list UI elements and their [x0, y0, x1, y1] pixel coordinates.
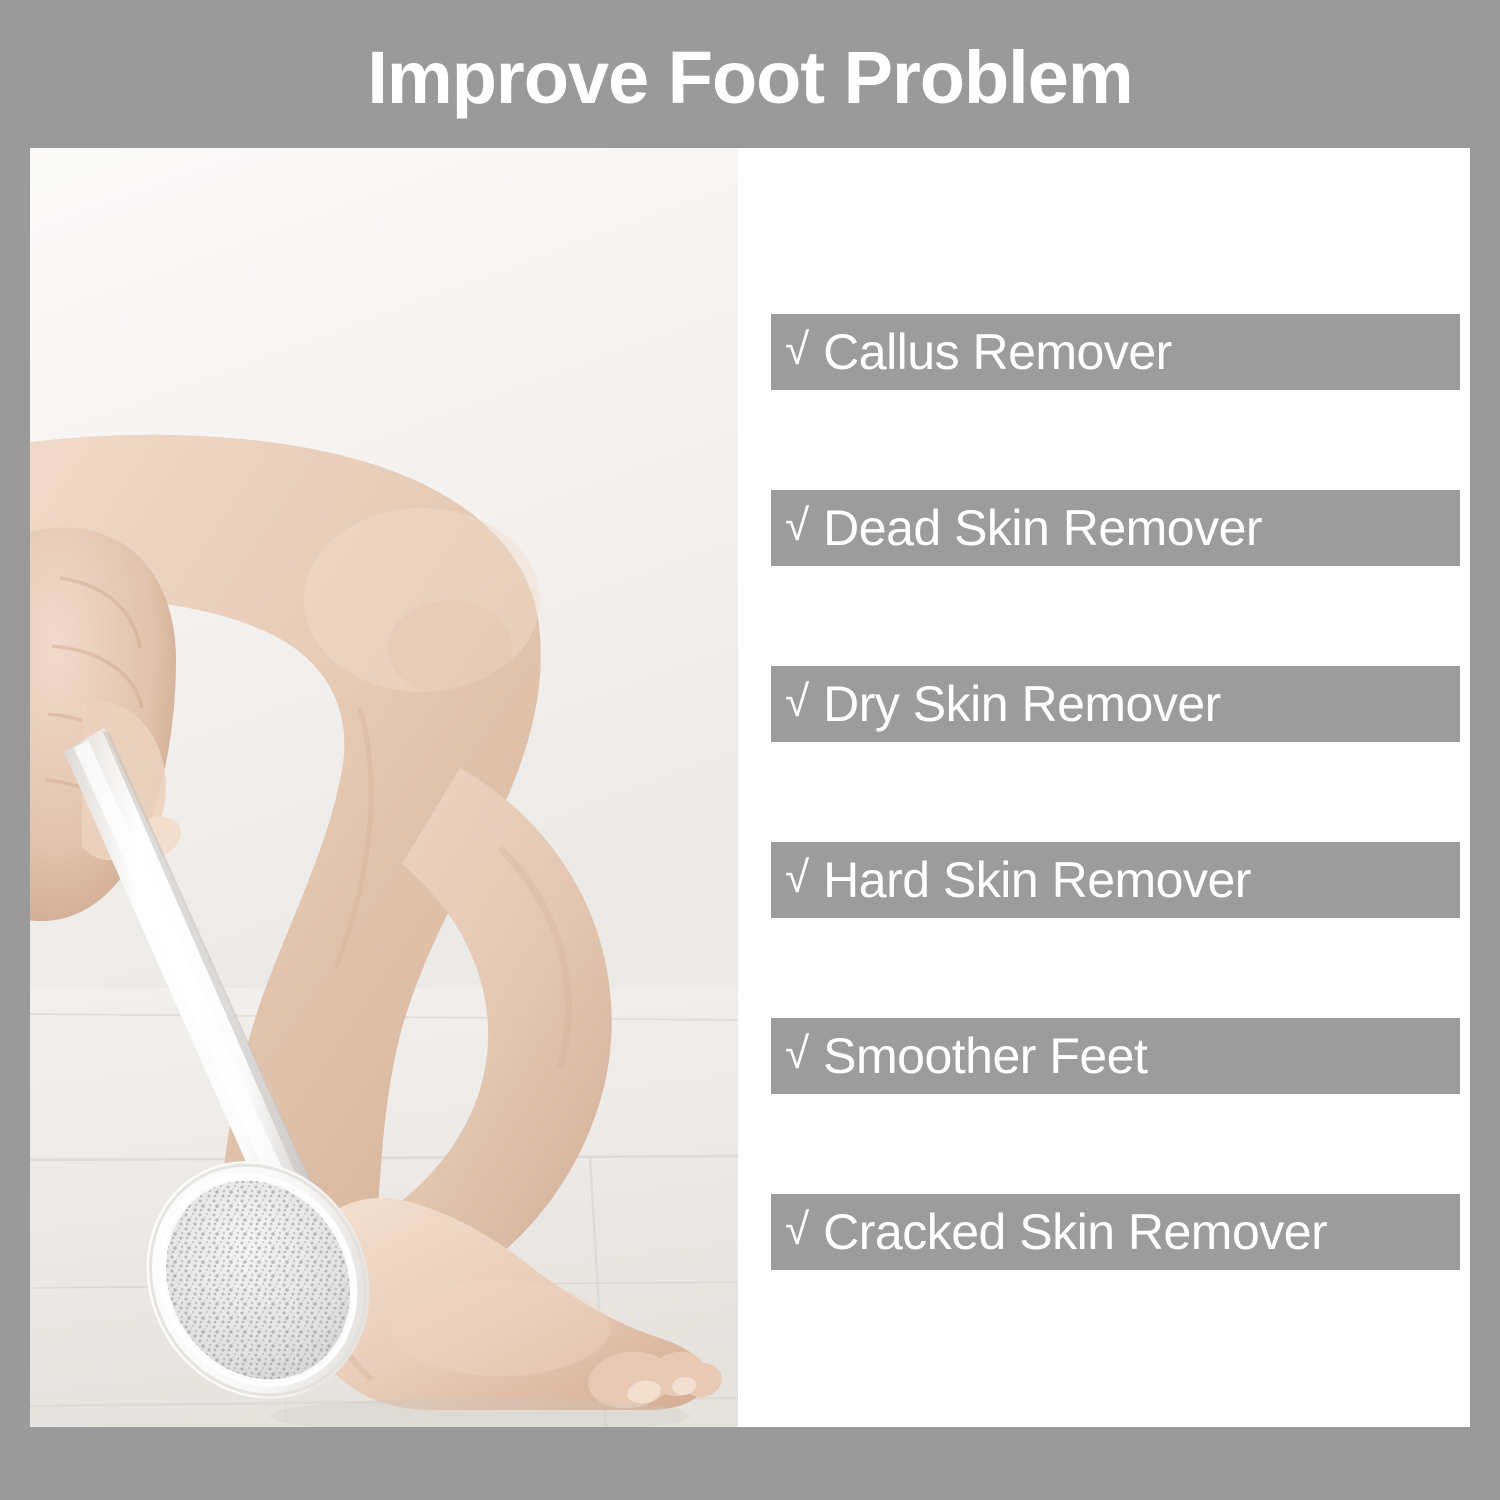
product-photo	[30, 148, 738, 1427]
radical-check-icon: √	[785, 1032, 809, 1076]
benefits-list: √ Callus Remover √ Dead Skin Remover √ D…	[738, 148, 1470, 1427]
benefit-item-dry-skin-remover: √ Dry Skin Remover	[771, 666, 1460, 742]
product-photo-illustration	[30, 148, 738, 1427]
benefit-label: Dead Skin Remover	[823, 503, 1262, 553]
header-band: Improve Foot Problem	[0, 0, 1500, 148]
benefit-item-smoother-feet: √ Smoother Feet	[771, 1018, 1460, 1094]
benefit-label: Cracked Skin Remover	[823, 1207, 1327, 1257]
benefit-item-cracked-skin-remover: √ Cracked Skin Remover	[771, 1194, 1460, 1270]
benefit-label: Hard Skin Remover	[823, 855, 1251, 905]
radical-check-icon: √	[785, 504, 809, 548]
benefit-label: Dry Skin Remover	[823, 679, 1221, 729]
benefit-item-hard-skin-remover: √ Hard Skin Remover	[771, 842, 1460, 918]
benefit-item-callus-remover: √ Callus Remover	[771, 314, 1460, 390]
benefit-label: Callus Remover	[823, 327, 1172, 377]
radical-check-icon: √	[785, 328, 809, 372]
page-title: Improve Foot Problem	[367, 41, 1132, 115]
radical-check-icon: √	[785, 680, 809, 724]
radical-check-icon: √	[785, 1208, 809, 1252]
benefit-label: Smoother Feet	[823, 1031, 1147, 1081]
content-card: √ Callus Remover √ Dead Skin Remover √ D…	[30, 148, 1470, 1427]
radical-check-icon: √	[785, 856, 809, 900]
benefit-item-dead-skin-remover: √ Dead Skin Remover	[771, 490, 1460, 566]
